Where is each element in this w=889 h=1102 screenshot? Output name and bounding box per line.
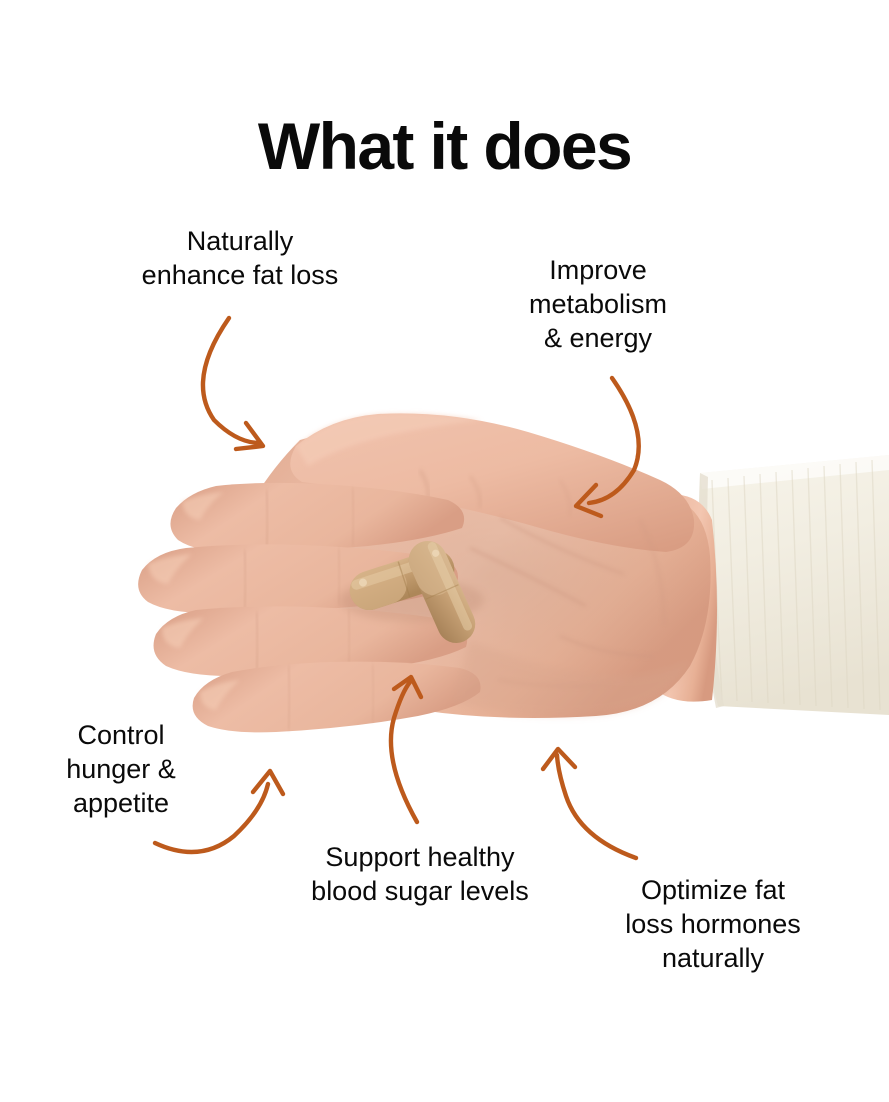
product-benefits-infographic: What it does Naturally enhance fat loss … — [0, 0, 889, 1102]
callout-control-hunger-appetite: Control hunger & appetite — [0, 718, 242, 820]
callout-improve-metabolism-energy: Improve metabolism & energy — [478, 253, 718, 355]
callout-optimize-fat-loss-hormones-naturally: Optimize fat loss hormones naturally — [588, 873, 838, 975]
page-title: What it does — [0, 112, 889, 181]
callout-support-healthy-blood-sugar-levels: Support healthy blood sugar levels — [270, 840, 570, 908]
callout-naturally-enhance-fat-loss: Naturally enhance fat loss — [80, 224, 400, 292]
sweater-sleeve — [698, 455, 889, 715]
